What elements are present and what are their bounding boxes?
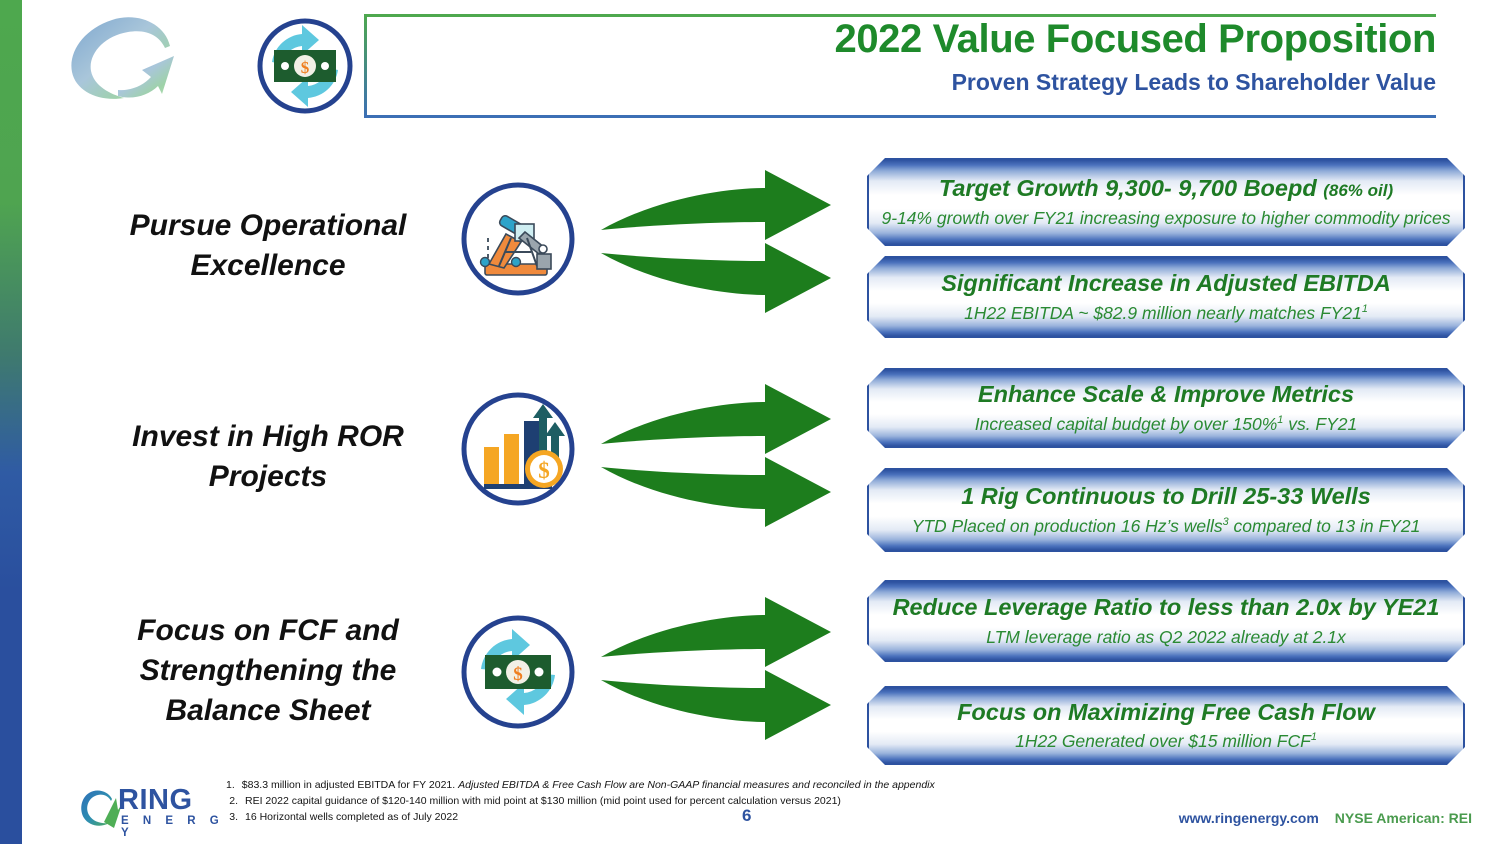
callout-box-6: Focus on Maximizing Free Cash Flow 1H22 … (867, 686, 1465, 765)
stock-ticker: NYSE American: REI (1335, 810, 1472, 826)
callout-headline-4: 1 Rig Continuous to Drill 25-33 Wells (961, 483, 1371, 510)
callout-sub-6: 1H22 Generated over $15 million FCF1 (1015, 731, 1317, 752)
website-url[interactable]: www.ringenergy.com (1179, 810, 1319, 826)
page-subtitle: Proven Strategy Leads to Shareholder Val… (834, 69, 1436, 96)
money-recycle-icon-header: $ (250, 16, 360, 116)
logo-tagline: E N E R G Y (121, 815, 228, 839)
arrow-group-3 (597, 575, 857, 770)
logo-wordmark: RING (118, 784, 193, 817)
callout-sub-4: YTD Placed on production 16 Hz’s wells3 … (912, 516, 1421, 537)
header-rule-left (364, 14, 367, 118)
callout-headline-2: Significant Increase in Adjusted EBITDA (941, 270, 1391, 297)
svg-text:$: $ (538, 458, 550, 483)
footnotes-list: 1. $83.3 million in adjusted EBITDA for … (226, 778, 926, 825)
footnote-ref: 1 (1362, 303, 1368, 315)
page-title: 2022 Value Focused Proposition (834, 18, 1436, 60)
row-operational-excellence: Pursue Operational Excellence Target Gro… (22, 148, 1500, 338)
callout-sub-2: 1H22 EBITDA ~ $82.9 million nearly match… (964, 303, 1368, 324)
header-rule-bottom (364, 115, 1436, 118)
footnote-item: 1. $83.3 million in adjusted EBITDA for … (226, 778, 926, 794)
growth-bar-chart-dollar-icon: $ (459, 390, 577, 508)
callout-sub-1: 9-14% growth over FY21 increasing exposu… (881, 208, 1450, 229)
footnote-ref: 1 (1311, 731, 1317, 743)
arrow-group-2 (597, 362, 857, 557)
footnote-item: 3. 16 Horizontal wells completed as of J… (226, 810, 926, 826)
row-label-3: Focus on FCF and Strengthening the Balan… (98, 611, 438, 731)
callout-headline-3: Enhance Scale & Improve Metrics (978, 381, 1354, 408)
callout-sub-3: Increased capital budget by over 150%1 v… (975, 414, 1358, 435)
footnote-text: $83.3 million in adjusted EBITDA for FY … (242, 778, 935, 794)
arrow-group-1 (597, 148, 857, 343)
ring-energy-logo: RING E N E R G Y (78, 784, 228, 836)
footnote-text: 16 Horizontal wells completed as of July… (245, 810, 458, 826)
callout-headline-1: Target Growth 9,300- 9,700 Boepd (86% oi… (939, 175, 1393, 202)
oil-pump-jack-icon (459, 180, 577, 298)
title-block: 2022 Value Focused Proposition Proven St… (834, 18, 1436, 96)
ring-circular-arrow-logo-icon (78, 786, 122, 830)
row-label-1: Pursue Operational Excellence (98, 206, 438, 286)
callout-box-3: Enhance Scale & Improve Metrics Increase… (867, 368, 1465, 448)
callout-headline-6: Focus on Maximizing Free Cash Flow (957, 699, 1375, 726)
brand-footer: www.ringenergy.com NYSE American: REI (1179, 810, 1472, 826)
circular-arrow-watermark-icon (58, 8, 208, 120)
svg-text:$: $ (301, 58, 310, 77)
row-fcf-balance-sheet: Focus on FCF and Strengthening the Balan… (22, 575, 1500, 765)
callout-sub-5: LTM leverage ratio as Q2 2022 already at… (986, 627, 1346, 648)
page-number: 6 (742, 806, 751, 826)
callout-box-2: Significant Increase in Adjusted EBITDA … (867, 256, 1465, 338)
callout-box-4: 1 Rig Continuous to Drill 25-33 Wells YT… (867, 468, 1465, 552)
svg-text:$: $ (513, 664, 523, 685)
row-high-ror-projects: Invest in High ROR Projects $ Enhance Sc… (22, 362, 1500, 552)
money-recycle-icon-row: $ (459, 613, 577, 731)
footnote-text: REI 2022 capital guidance of $120-140 mi… (245, 794, 841, 810)
row-label-2: Invest in High ROR Projects (98, 417, 438, 497)
callout-box-5: Reduce Leverage Ratio to less than 2.0x … (867, 580, 1465, 662)
callout-headline-5: Reduce Leverage Ratio to less than 2.0x … (893, 594, 1440, 621)
footnote-item: 2. REI 2022 capital guidance of $120-140… (226, 794, 926, 810)
slide-header: $ 2022 Value Focused Proposition Proven … (0, 0, 1500, 132)
callout-box-1: Target Growth 9,300- 9,700 Boepd (86% oi… (867, 158, 1465, 246)
